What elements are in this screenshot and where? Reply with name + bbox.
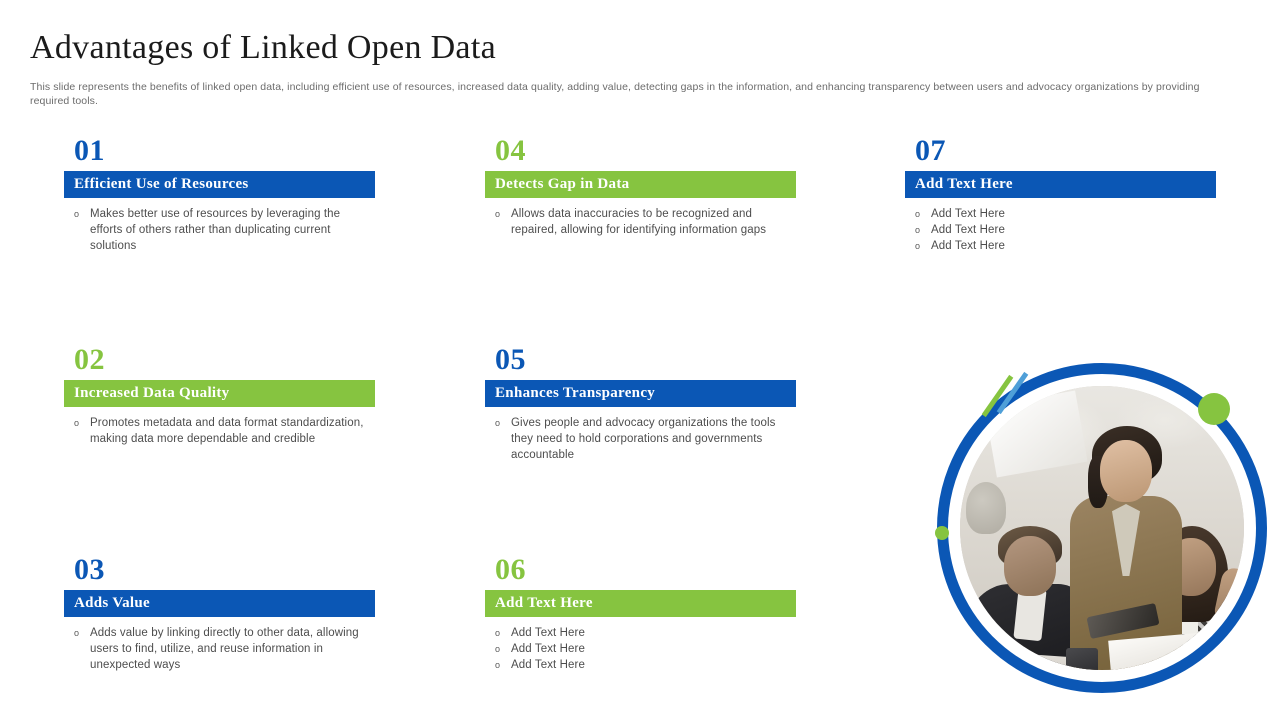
card-number: 02 [74, 345, 375, 375]
card-body: o Makes better use of resources by lever… [64, 198, 375, 254]
list-item: o Add Text Here [915, 206, 1216, 222]
bullet-text: Add Text Here [511, 641, 796, 657]
card-body: o Add Text Here o Add Text Here o Add Te… [485, 617, 796, 673]
bullet-circle-icon: o [915, 238, 931, 254]
bullet-circle-icon: o [74, 206, 90, 222]
bullet-circle-icon: o [915, 222, 931, 238]
card-body: o Allows data inaccuracies to be recogni… [485, 198, 796, 238]
bullet-text: Promotes metadata and data format standa… [90, 415, 375, 447]
card-04: 04 Detects Gap in Data o Allows data ina… [485, 136, 796, 238]
list-item: o Add Text Here [495, 657, 796, 673]
card-header-bar: Detects Gap in Data [485, 171, 796, 198]
bullet-circle-icon: o [495, 206, 511, 222]
team-photo [960, 386, 1244, 670]
bullet-circle-icon: o [915, 206, 931, 222]
window-shape [984, 391, 1087, 478]
list-item: o Makes better use of resources by lever… [74, 206, 375, 254]
card-header-bar: Efficient Use of Resources [64, 171, 375, 198]
bullet-text: Add Text Here [511, 657, 796, 673]
decorative-photo-group [930, 355, 1280, 720]
card-heading: Add Text Here [495, 595, 593, 612]
bullet-circle-icon: o [74, 415, 90, 431]
card-06: 06 Add Text Here o Add Text Here o Add T… [485, 555, 796, 673]
card-header-bar: Adds Value [64, 590, 375, 617]
list-item: o Allows data inaccuracies to be recogni… [495, 206, 796, 238]
card-header-bar: Enhances Transparency [485, 380, 796, 407]
card-heading: Increased Data Quality [74, 385, 230, 402]
bullet-text: Add Text Here [931, 238, 1216, 254]
bullet-circle-icon: o [495, 641, 511, 657]
card-body: o Add Text Here o Add Text Here o Add Te… [905, 198, 1216, 254]
card-number: 04 [495, 136, 796, 166]
card-07: 07 Add Text Here o Add Text Here o Add T… [905, 136, 1216, 254]
card-02: 02 Increased Data Quality o Promotes met… [64, 345, 375, 447]
card-heading: Adds Value [74, 595, 150, 612]
accent-dot-large-icon [1198, 393, 1230, 425]
card-number: 01 [74, 136, 375, 166]
pen-holder [1066, 648, 1098, 670]
list-item: o Gives people and advocacy organization… [495, 415, 796, 463]
bullet-circle-icon: o [74, 625, 90, 641]
card-body: o Adds value by linking directly to othe… [64, 617, 375, 673]
accent-dot-small-icon [935, 526, 949, 540]
list-item: o Add Text Here [915, 222, 1216, 238]
card-body: o Gives people and advocacy organization… [485, 407, 796, 463]
card-heading: Efficient Use of Resources [74, 176, 249, 193]
bullet-text: Adds value by linking directly to other … [90, 625, 375, 673]
bullet-text: Add Text Here [931, 206, 1216, 222]
card-body: o Promotes metadata and data format stan… [64, 407, 375, 447]
card-03: 03 Adds Value o Adds value by linking di… [64, 555, 375, 673]
card-05: 05 Enhances Transparency o Gives people … [485, 345, 796, 463]
plant-shape [966, 482, 1006, 534]
bullet-text: Gives people and advocacy organizations … [511, 415, 796, 463]
card-number: 03 [74, 555, 375, 585]
person-center-head [1100, 440, 1152, 502]
photo-background [960, 386, 1244, 670]
list-item: o Adds value by linking directly to othe… [74, 625, 375, 673]
card-number: 05 [495, 345, 796, 375]
card-header-bar: Increased Data Quality [64, 380, 375, 407]
list-item: o Promotes metadata and data format stan… [74, 415, 375, 447]
person-left-head [1004, 536, 1056, 596]
bullet-text: Makes better use of resources by leverag… [90, 206, 375, 254]
card-number: 07 [915, 136, 1216, 166]
list-item: o Add Text Here [495, 641, 796, 657]
card-heading: Add Text Here [915, 176, 1013, 193]
slide-description: This slide represents the benefits of li… [30, 80, 1205, 108]
list-item: o Add Text Here [495, 625, 796, 641]
bullet-text: Add Text Here [931, 222, 1216, 238]
card-01: 01 Efficient Use of Resources o Makes be… [64, 136, 375, 254]
card-heading: Enhances Transparency [495, 385, 655, 402]
bullet-circle-icon: o [495, 657, 511, 673]
page-title: Advantages of Linked Open Data [30, 29, 496, 67]
card-number: 06 [495, 555, 796, 585]
card-header-bar: Add Text Here [485, 590, 796, 617]
bullet-text: Add Text Here [511, 625, 796, 641]
bullet-circle-icon: o [495, 415, 511, 431]
bullet-circle-icon: o [495, 625, 511, 641]
bullet-text: Allows data inaccuracies to be recognize… [511, 206, 796, 238]
card-heading: Detects Gap in Data [495, 176, 629, 193]
list-item: o Add Text Here [915, 238, 1216, 254]
card-header-bar: Add Text Here [905, 171, 1216, 198]
